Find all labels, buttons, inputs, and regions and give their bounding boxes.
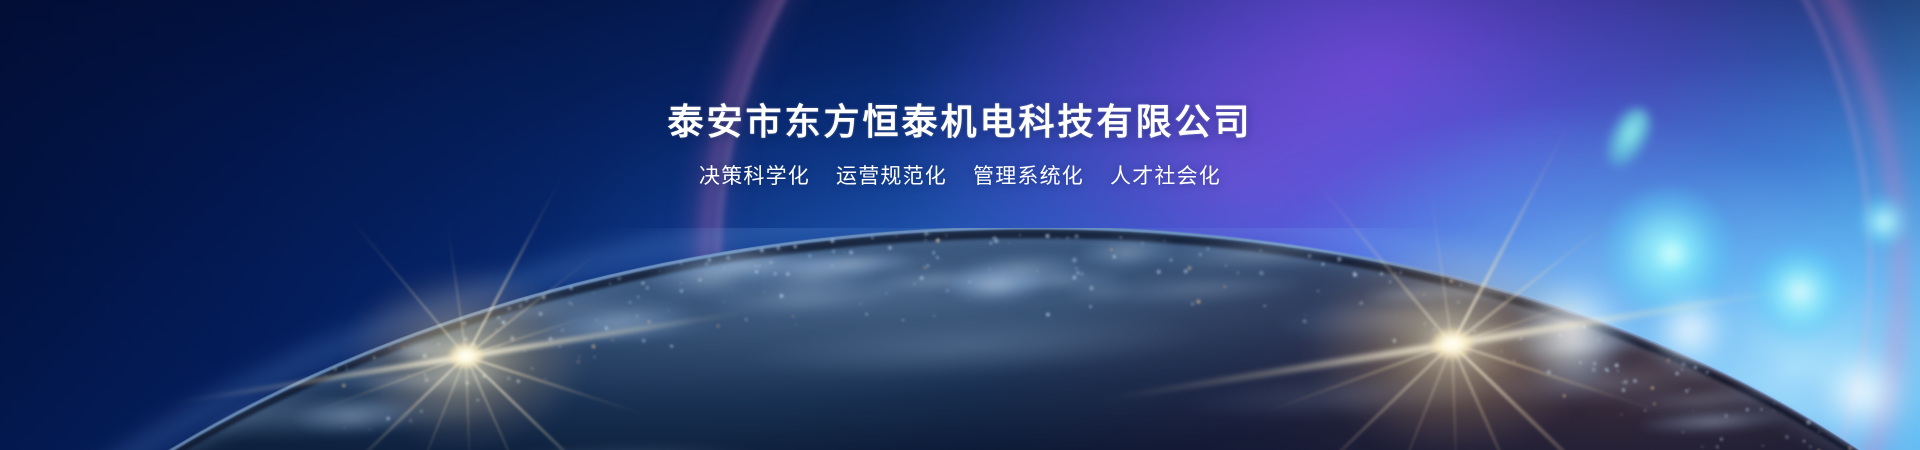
city-light xyxy=(345,365,347,367)
city-light xyxy=(1045,234,1050,239)
sun-burst-right-icon xyxy=(1080,188,1824,450)
city-light xyxy=(1513,359,1516,362)
city-light xyxy=(1081,273,1084,276)
city-light xyxy=(1554,375,1557,378)
city-light xyxy=(1019,234,1021,236)
city-light xyxy=(758,264,762,268)
city-light xyxy=(461,321,466,326)
city-light xyxy=(612,338,615,341)
city-light xyxy=(1076,270,1081,275)
city-light xyxy=(1597,338,1601,342)
city-light xyxy=(1621,388,1626,393)
flare-ray xyxy=(321,355,467,450)
city-light xyxy=(1388,280,1392,284)
city-light xyxy=(1818,431,1820,433)
flare-ray xyxy=(465,356,471,450)
city-light xyxy=(636,315,638,317)
city-light-cluster xyxy=(1640,407,1786,435)
city-light xyxy=(1473,330,1476,333)
city-light xyxy=(592,292,595,295)
earth-dark-band xyxy=(0,228,1920,450)
city-light xyxy=(482,374,487,379)
city-light xyxy=(1423,294,1425,296)
city-light xyxy=(945,234,947,236)
flare-ray xyxy=(1451,344,1458,450)
city-light xyxy=(1263,304,1266,307)
bokeh-white-low-icon xyxy=(1652,292,1728,368)
city-light xyxy=(1057,237,1059,239)
slogan-item: 运营规范化 xyxy=(836,165,947,188)
city-light xyxy=(1190,302,1195,307)
city-light xyxy=(341,383,346,388)
city-light xyxy=(793,244,797,248)
city-light xyxy=(870,236,873,239)
earth-limb-line xyxy=(0,228,1920,450)
flare-ray xyxy=(1451,214,1618,346)
city-light xyxy=(1459,283,1462,286)
city-light xyxy=(923,265,928,270)
cyan-glow-secondary xyxy=(0,0,1920,450)
city-light xyxy=(919,276,924,281)
slogan-item: 决策科学化 xyxy=(699,165,810,188)
city-light-cluster xyxy=(1153,230,1361,276)
city-light xyxy=(424,374,427,377)
city-light xyxy=(895,235,897,237)
city-light xyxy=(990,242,993,245)
city-light-cluster xyxy=(743,255,880,297)
city-light-cluster xyxy=(708,277,898,320)
city-light-cluster xyxy=(1494,356,1713,411)
city-light xyxy=(1036,270,1038,272)
city-light xyxy=(1225,265,1227,267)
flare-ray xyxy=(466,355,648,416)
sky-gradient-base xyxy=(0,0,1920,450)
city-light xyxy=(1563,394,1566,397)
city-light xyxy=(344,427,346,429)
city-light xyxy=(561,329,564,332)
city-light xyxy=(1774,402,1776,404)
city-light xyxy=(716,323,721,328)
city-light xyxy=(1072,257,1078,263)
city-light xyxy=(776,246,781,251)
city-light xyxy=(407,374,409,376)
company-slogans: 决策科学化运营规范化管理系统化人才社会化 xyxy=(0,166,1920,187)
city-light xyxy=(1606,370,1609,373)
city-light xyxy=(967,280,971,284)
company-title: 泰安市东方恒泰机电科技有限公司 xyxy=(0,104,1920,140)
city-light xyxy=(724,268,726,270)
city-light xyxy=(541,295,546,300)
city-light xyxy=(345,368,348,371)
city-light-cluster xyxy=(1363,284,1452,303)
flare-ray xyxy=(466,312,600,357)
earth-globe xyxy=(0,228,1920,450)
city-light xyxy=(1643,408,1647,412)
city-light xyxy=(1623,379,1628,384)
city-light xyxy=(1652,402,1656,406)
city-light xyxy=(786,272,790,276)
city-light xyxy=(679,261,683,265)
city-light xyxy=(501,320,506,325)
flare-ray xyxy=(465,356,532,450)
city-light xyxy=(596,319,598,321)
city-light xyxy=(1693,366,1697,370)
earth-clouds xyxy=(0,228,1920,450)
city-light-cluster xyxy=(312,365,512,393)
flare-core xyxy=(449,343,483,369)
city-light-cluster xyxy=(444,284,694,334)
city-light xyxy=(731,290,733,292)
pink-flare-arc-inner xyxy=(716,0,1872,450)
city-light xyxy=(924,239,927,242)
earth-city-lights xyxy=(0,228,1920,450)
city-light xyxy=(617,276,622,281)
city-light xyxy=(1456,300,1461,305)
city-light-cluster xyxy=(469,314,717,352)
city-light xyxy=(935,238,940,243)
city-light xyxy=(1519,337,1523,341)
city-light xyxy=(372,356,375,359)
city-light xyxy=(1582,324,1587,329)
city-light xyxy=(510,336,516,342)
city-light xyxy=(471,343,476,348)
city-light xyxy=(1206,246,1210,250)
city-light xyxy=(576,360,580,364)
sky-vertical-shade xyxy=(0,0,1920,450)
city-light xyxy=(754,269,759,274)
city-light xyxy=(1398,271,1403,276)
city-light xyxy=(698,278,702,282)
flare-halo xyxy=(1314,242,1590,446)
city-light xyxy=(525,298,529,302)
flare-streak-horizontal xyxy=(169,307,762,406)
city-light xyxy=(924,231,929,236)
city-light xyxy=(1701,445,1704,448)
flare-ray xyxy=(465,247,604,357)
city-light xyxy=(641,338,647,344)
city-light-cluster xyxy=(385,338,450,360)
city-light xyxy=(1578,361,1582,365)
city-light xyxy=(420,409,423,412)
city-light xyxy=(831,264,834,267)
city-light xyxy=(989,268,991,270)
city-light xyxy=(1072,275,1076,279)
flare-ray xyxy=(409,356,467,450)
city-light xyxy=(1705,371,1708,374)
city-light xyxy=(763,292,765,294)
city-light xyxy=(1259,270,1265,276)
city-light xyxy=(1075,267,1078,270)
city-light-cluster xyxy=(1505,333,1657,358)
city-light xyxy=(1681,362,1686,367)
flare-core xyxy=(1432,328,1473,359)
city-light-cluster xyxy=(957,252,1085,287)
city-light xyxy=(1605,368,1609,372)
flare-ray xyxy=(1451,343,1652,450)
city-light xyxy=(1317,289,1320,292)
city-light xyxy=(1308,254,1312,258)
earth-atmosphere-halo xyxy=(0,228,1920,450)
city-light xyxy=(1592,361,1597,366)
city-light xyxy=(1187,266,1192,271)
slogan-item: 管理系统化 xyxy=(973,165,1084,188)
city-light xyxy=(609,282,612,285)
city-light xyxy=(568,301,571,304)
flare-ray xyxy=(1452,291,1613,345)
city-light xyxy=(647,320,651,324)
city-light xyxy=(422,353,428,359)
city-light xyxy=(1008,242,1010,244)
city-light-cluster xyxy=(363,368,517,402)
city-light-cluster xyxy=(658,249,841,282)
city-light xyxy=(830,238,836,244)
bokeh-cyan-large-icon xyxy=(1604,188,1732,316)
city-light xyxy=(1110,248,1113,251)
slogan-item: 人才社会化 xyxy=(1110,165,1221,188)
city-light xyxy=(926,264,929,267)
city-light xyxy=(518,303,524,309)
city-light xyxy=(778,293,784,299)
city-light xyxy=(1525,300,1527,302)
city-light xyxy=(1394,272,1396,274)
city-light xyxy=(424,377,430,383)
city-light xyxy=(935,256,939,260)
city-light xyxy=(1304,314,1306,316)
city-light xyxy=(1183,268,1189,274)
city-light xyxy=(1651,386,1655,390)
city-light xyxy=(1803,439,1806,442)
city-light xyxy=(415,363,416,364)
city-light xyxy=(1666,358,1671,363)
city-light xyxy=(1848,446,1852,450)
city-light xyxy=(498,345,501,348)
city-light xyxy=(993,238,999,244)
flare-ray xyxy=(306,355,466,415)
city-light xyxy=(1125,253,1127,255)
city-light xyxy=(769,260,773,264)
city-light xyxy=(669,344,673,348)
city-light xyxy=(1614,362,1620,368)
city-light xyxy=(333,366,338,371)
sun-burst-left-icon xyxy=(156,226,776,450)
city-light xyxy=(1423,322,1426,325)
city-light xyxy=(1045,312,1050,317)
city-light xyxy=(1621,382,1623,384)
city-light xyxy=(531,367,534,370)
city-light xyxy=(409,419,412,422)
city-light xyxy=(1682,432,1684,434)
city-light-cluster xyxy=(686,240,793,277)
city-light xyxy=(744,317,748,321)
city-light xyxy=(931,250,936,255)
city-light xyxy=(1433,328,1437,332)
bokeh-cyan-mid-icon xyxy=(1752,244,1848,340)
city-light xyxy=(1156,270,1161,275)
flare-ray xyxy=(465,170,566,357)
city-light xyxy=(844,252,845,253)
city-light xyxy=(1559,334,1562,337)
city-light xyxy=(593,356,596,359)
city-light xyxy=(913,283,915,285)
city-light xyxy=(1379,272,1383,276)
city-light xyxy=(885,292,888,295)
city-light xyxy=(464,337,468,341)
city-light xyxy=(578,355,581,358)
city-light xyxy=(1449,278,1454,283)
city-light xyxy=(1500,351,1502,353)
city-light xyxy=(707,257,713,263)
bokeh-white-far-icon xyxy=(1816,346,1908,438)
city-light xyxy=(544,377,546,379)
city-light-cluster xyxy=(547,301,703,332)
city-light xyxy=(934,315,936,317)
city-light xyxy=(658,270,661,273)
city-light-cluster xyxy=(985,268,1129,293)
city-light xyxy=(865,313,868,316)
city-light xyxy=(1112,255,1116,259)
city-light xyxy=(1066,236,1069,239)
city-light xyxy=(465,381,469,385)
city-light xyxy=(1760,408,1763,411)
city-light xyxy=(437,343,440,346)
city-light xyxy=(1163,240,1166,243)
city-light-cluster xyxy=(1619,384,1788,416)
city-light xyxy=(1089,305,1093,309)
city-light xyxy=(754,265,757,268)
city-light xyxy=(637,295,640,298)
city-light xyxy=(1352,271,1356,275)
city-light xyxy=(946,289,949,292)
city-light xyxy=(1633,379,1637,383)
city-light xyxy=(1591,368,1596,373)
city-light xyxy=(558,345,561,348)
city-light xyxy=(402,346,405,349)
city-light-cluster xyxy=(398,330,474,378)
city-light xyxy=(539,311,544,316)
city-light xyxy=(1472,344,1475,347)
violet-glow-secondary xyxy=(0,0,1920,450)
city-light-cluster xyxy=(944,275,1039,293)
city-light xyxy=(993,236,997,240)
city-light xyxy=(936,238,940,242)
flare-ray xyxy=(1428,183,1453,344)
city-light xyxy=(1302,319,1307,324)
city-light xyxy=(1170,258,1173,261)
city-light-cluster xyxy=(756,252,946,279)
city-light-cluster xyxy=(1362,276,1581,306)
city-light xyxy=(1199,253,1203,257)
city-light-cluster xyxy=(1101,269,1305,308)
city-light xyxy=(680,282,682,284)
city-light xyxy=(723,301,725,303)
city-light xyxy=(476,398,479,401)
bokeh-cyan-core-icon xyxy=(1642,224,1702,284)
city-light xyxy=(386,416,390,420)
city-light xyxy=(1337,256,1342,261)
city-light xyxy=(887,245,893,251)
flare-halo xyxy=(351,271,581,441)
flare-ray xyxy=(1308,173,1453,345)
city-light xyxy=(517,379,521,383)
city-light xyxy=(859,303,861,305)
city-light xyxy=(1088,285,1094,291)
city-light xyxy=(902,319,905,322)
city-light xyxy=(1719,437,1724,442)
city-light xyxy=(523,349,525,351)
city-light xyxy=(369,428,371,430)
flare-ray xyxy=(1260,343,1453,415)
city-light xyxy=(680,289,683,292)
city-light-cluster xyxy=(646,252,777,301)
city-light xyxy=(570,302,574,306)
city-light xyxy=(1441,311,1444,314)
city-light xyxy=(1809,445,1812,448)
flare-ray xyxy=(1383,344,1453,450)
city-light xyxy=(1675,371,1680,376)
city-light xyxy=(569,286,573,290)
city-light xyxy=(992,237,994,239)
city-light xyxy=(641,281,645,285)
city-light xyxy=(1784,434,1789,439)
city-light xyxy=(1691,410,1693,412)
cyan-glow xyxy=(0,0,1920,450)
city-light xyxy=(506,376,512,382)
flare-ray xyxy=(346,214,467,357)
city-light-cluster xyxy=(866,268,1011,293)
city-light xyxy=(548,336,553,341)
city-light xyxy=(1716,445,1719,448)
flare-ray xyxy=(465,355,633,450)
city-light-cluster xyxy=(782,250,915,276)
city-light xyxy=(1547,370,1552,375)
city-light xyxy=(482,394,484,396)
city-light xyxy=(792,315,795,318)
flare-ray xyxy=(1278,343,1453,450)
city-light xyxy=(968,300,970,302)
city-light xyxy=(1718,391,1720,393)
city-light xyxy=(928,233,931,236)
city-light xyxy=(1680,368,1684,372)
city-light xyxy=(1684,389,1688,393)
city-light xyxy=(1620,414,1622,416)
bokeh-cyan-small-icon xyxy=(1858,196,1910,248)
city-light xyxy=(494,328,498,332)
city-light-cluster xyxy=(1063,281,1138,303)
city-light-cluster xyxy=(947,264,1045,305)
city-light xyxy=(1773,410,1775,412)
city-light xyxy=(389,346,391,348)
flare-ray xyxy=(1450,121,1571,345)
city-light xyxy=(1724,414,1728,418)
city-light xyxy=(1196,299,1201,304)
city-light xyxy=(1352,272,1358,278)
city-light xyxy=(1141,241,1145,245)
city-light xyxy=(325,375,327,377)
city-light xyxy=(507,306,511,310)
city-light xyxy=(704,261,709,266)
city-light xyxy=(591,344,596,349)
city-light xyxy=(1617,370,1619,372)
hero-banner: 泰安市东方恒泰机电科技有限公司 决策科学化运营规范化管理系统化人才社会化 xyxy=(0,0,1920,450)
city-light xyxy=(1074,233,1079,238)
city-light xyxy=(1119,236,1121,238)
flare-ray xyxy=(446,222,467,356)
city-light-cluster xyxy=(542,309,693,342)
city-light xyxy=(1761,445,1763,447)
city-light xyxy=(667,309,670,312)
city-light-cluster xyxy=(1076,235,1177,271)
city-light xyxy=(725,255,731,261)
